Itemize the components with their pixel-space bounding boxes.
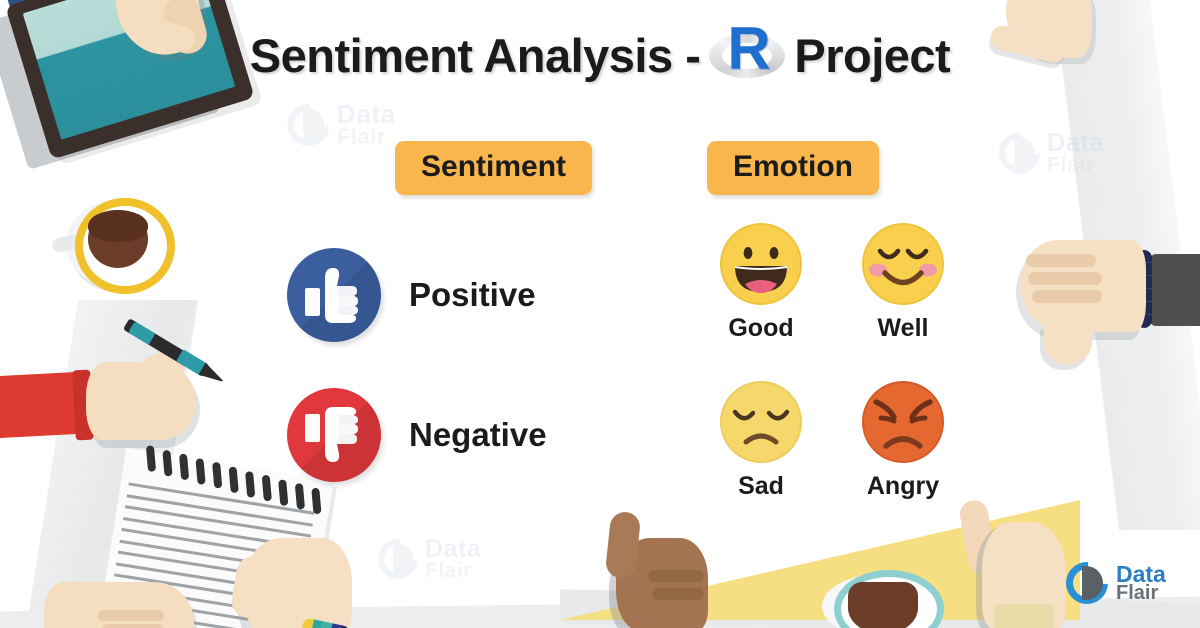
hand-finger — [648, 570, 704, 582]
r-language-logo-icon: R — [709, 24, 785, 86]
hand-finger — [1026, 254, 1096, 267]
thumbs-down-icon — [287, 388, 381, 482]
hand-with-beaded-bracelet-right — [1010, 232, 1200, 372]
page-title: Sentiment Analysis - R Project — [0, 24, 1200, 86]
shirt-sleeve-gray — [1150, 254, 1200, 326]
disappointed-face-icon — [719, 380, 803, 464]
hand-on-notebook — [44, 566, 214, 628]
watermark-line1: Data — [425, 538, 481, 561]
hand-with-bracelet — [232, 534, 382, 628]
hand-finger — [98, 610, 164, 621]
watermark-line1: Data — [337, 103, 396, 127]
sentiment-label-positive: Positive — [409, 276, 536, 314]
sleeve-cuff — [994, 604, 1054, 628]
page-title-text-right: Project — [794, 28, 950, 83]
emotion-cell-good: Good — [690, 222, 832, 376]
coffee-crema — [88, 210, 148, 242]
dataflair-logo-mark-icon — [378, 539, 418, 579]
hand-finger — [1032, 290, 1102, 303]
watermark-line2: Flair — [337, 127, 396, 147]
hand-finger — [1028, 272, 1102, 285]
dataflair-logo-mark-icon — [999, 133, 1040, 174]
emotion-column-header: Emotion — [707, 141, 879, 195]
hand-pinky — [1044, 324, 1092, 364]
thumbs-up-icon — [287, 248, 381, 342]
dataflair-logo-mark-icon — [287, 104, 329, 146]
dataflair-watermark: Data Flair — [287, 103, 395, 147]
infographic-canvas: Data Flair Data Flair Data Flair Sentime… — [0, 0, 1200, 628]
sentiment-row-positive: Positive — [287, 248, 536, 342]
watermark-line2: Flair — [425, 561, 481, 580]
emotion-cell-angry: Angry — [832, 376, 974, 530]
coffee-cup-bottom-center — [822, 568, 942, 628]
coffee-cup-top-left — [64, 188, 172, 292]
emotion-label-sad: Sad — [738, 472, 784, 501]
hand-finger — [102, 624, 164, 628]
angry-face-icon — [861, 380, 945, 464]
sentiment-label-negative: Negative — [409, 416, 547, 454]
hand-palm — [44, 582, 194, 628]
brand-name-line1: Data — [1116, 564, 1166, 585]
dataflair-logo-mark-icon — [1066, 562, 1108, 604]
emotion-grid: Good Well — [690, 222, 974, 530]
sentiment-row-negative: Negative — [287, 388, 547, 482]
emotion-label-good: Good — [728, 314, 793, 343]
emotion-cell-well: Well — [832, 222, 974, 376]
brand-name-line2: Flair — [1116, 584, 1166, 602]
r-logo-letter: R — [727, 18, 770, 80]
emotion-label-well: Well — [878, 314, 929, 343]
dataflair-watermark: Data Flair — [378, 538, 481, 580]
emotion-cell-sad: Sad — [690, 376, 832, 530]
emotion-label-angry: Angry — [867, 472, 939, 501]
page-title-text-left: Sentiment Analysis - — [250, 28, 701, 83]
grinning-face-icon — [719, 222, 803, 306]
dataflair-logo[interactable]: Data Flair — [1066, 562, 1166, 604]
hand-finger — [652, 588, 704, 600]
coffee-liquid — [848, 582, 918, 628]
sentiment-column-header: Sentiment — [395, 141, 592, 195]
relieved-face-icon — [861, 222, 945, 306]
